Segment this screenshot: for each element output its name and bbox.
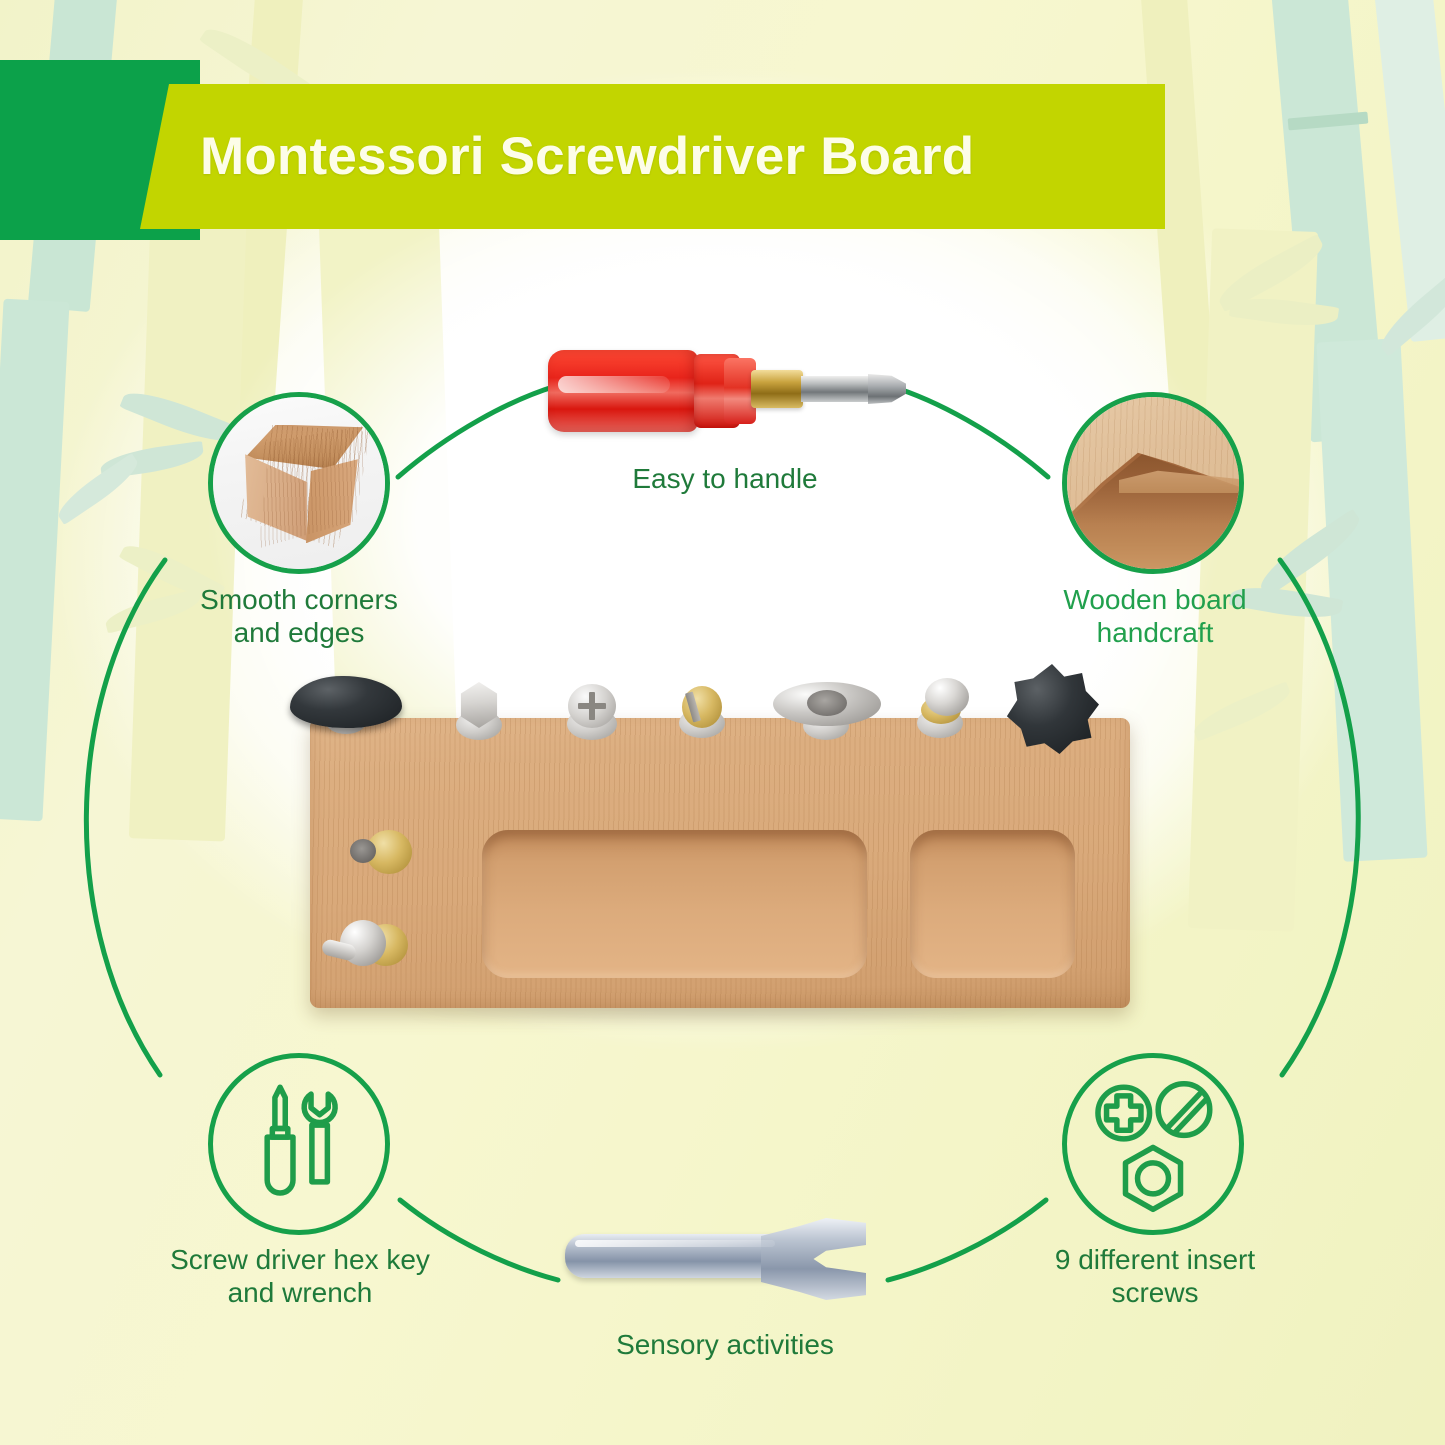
oval-knob-body	[290, 676, 402, 728]
caption-line-1: Sensory activities	[530, 1328, 920, 1361]
screwdriver-handle-highlight	[558, 376, 670, 393]
caption-line-1: Wooden board	[1000, 583, 1310, 616]
hardware-dome-bolt	[915, 678, 979, 744]
dome-bolt-head	[925, 678, 969, 716]
wrench-line-icon	[304, 1094, 335, 1182]
caption-easy-to-handle: Easy to handle	[545, 462, 905, 495]
caption-line-1: Screw driver hex key	[118, 1243, 482, 1276]
hardware-black-star-knob	[1005, 664, 1103, 760]
caption-smooth-corners: Smooth corners and edges	[139, 583, 459, 649]
phillips-head-icon	[1098, 1087, 1150, 1139]
caption-wooden-board-handcraft: Wooden board handcraft	[1000, 583, 1310, 649]
wrench-highlight	[575, 1240, 775, 1247]
infographic-page: Montessori Screwdriver Board Smooth corn…	[0, 0, 1445, 1445]
hardware-black-oval-knob	[290, 676, 406, 738]
screwdriver-brass-ferrule	[751, 370, 803, 408]
screwdriver-shaft	[801, 376, 875, 402]
wing-nut-center	[807, 690, 847, 716]
slotted-head-icon	[1158, 1084, 1210, 1136]
board-tray-large	[482, 830, 867, 978]
product-photo	[310, 718, 1130, 1008]
caption-line-2: handcraft	[1000, 616, 1310, 649]
hardware-slotted-screw	[675, 686, 731, 744]
screw-heads-line-icon-group	[1067, 1058, 1239, 1230]
board-tray-small	[910, 830, 1075, 978]
wooden-board	[310, 718, 1130, 1008]
arc-topright	[890, 386, 1048, 477]
star-knob-body	[1005, 664, 1099, 754]
feature-circle-tools	[208, 1053, 390, 1235]
screwdriver-phillips-tip	[868, 374, 906, 404]
caption-tools: Screw driver hex key and wrench	[118, 1243, 482, 1309]
caption-line-1: Smooth corners	[139, 583, 459, 616]
feature-circle-wooden-board-handcraft	[1062, 392, 1244, 574]
wrench-photo	[565, 1218, 865, 1300]
hardware-wing-nut	[773, 682, 885, 744]
hardware-phillips-screw	[562, 684, 622, 744]
screwdriver-line-icon	[267, 1087, 293, 1193]
page-title: Montessori Screwdriver Board	[200, 84, 1160, 229]
wrench-open-end-head	[761, 1218, 866, 1300]
tools-line-icon-group	[213, 1058, 385, 1230]
caption-insert-screws: 9 different insert screws	[990, 1243, 1320, 1309]
feature-circle-smooth-corners	[208, 392, 390, 574]
socket-head-recess	[350, 839, 376, 863]
arc-topleft	[398, 386, 556, 477]
wood-groove-photo	[1067, 397, 1239, 569]
hardware-socket-head-screw	[334, 824, 418, 880]
screwdriver-photo	[548, 336, 903, 446]
wood-corner-photo	[213, 397, 385, 569]
caption-line-2: and edges	[139, 616, 459, 649]
caption-line-2: screws	[990, 1276, 1320, 1309]
caption-line-1: Easy to handle	[545, 462, 905, 495]
feature-circle-insert-screws	[1062, 1053, 1244, 1235]
hardware-hex-bolt	[450, 682, 508, 744]
hex-nut-icon	[1125, 1147, 1180, 1209]
caption-line-1: 9 different insert	[990, 1243, 1320, 1276]
caption-line-2: and wrench	[118, 1276, 482, 1309]
wood-block	[237, 425, 371, 549]
caption-sensory-activities: Sensory activities	[530, 1328, 920, 1361]
phillips-slot-vertical	[589, 692, 595, 720]
hardware-thumb-screw	[322, 916, 418, 974]
